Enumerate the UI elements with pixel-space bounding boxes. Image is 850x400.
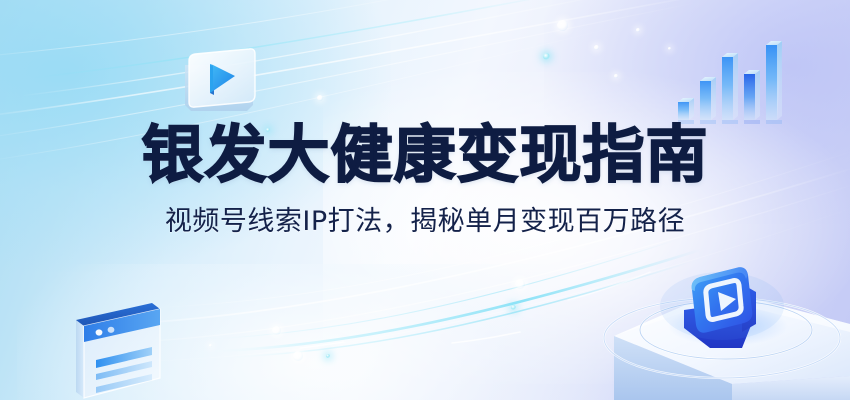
bar-2 — [700, 77, 716, 120]
document-window-icon — [68, 288, 180, 400]
bar-1 — [678, 98, 694, 120]
bar-4 — [744, 70, 760, 120]
promo-banner: 银发大健康变现指南 视频号线索IP打法，揭秘单月变现百万路径 — [0, 0, 850, 400]
bar-chart-decoration — [672, 28, 794, 124]
play-button-3d-icon — [592, 266, 850, 400]
play-card-icon — [175, 43, 267, 121]
bar-5 — [766, 41, 782, 120]
bar-3 — [722, 53, 738, 120]
